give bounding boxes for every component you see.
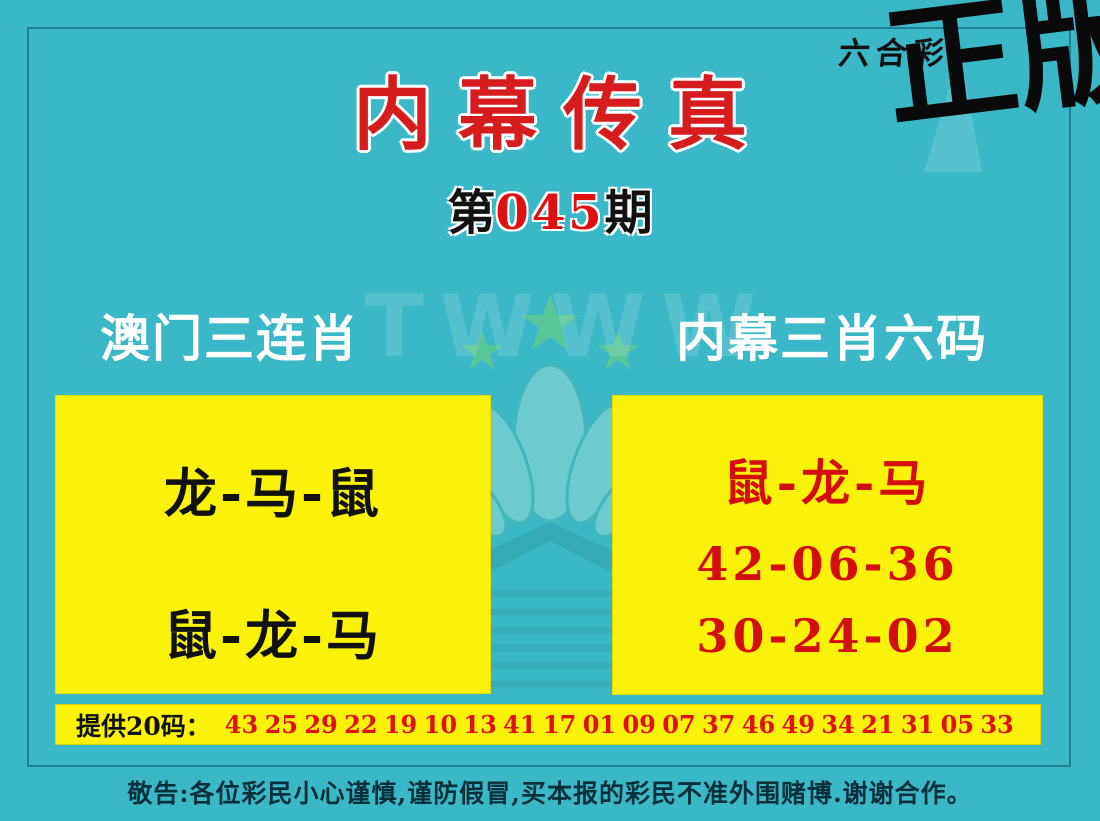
code-number: 19: [384, 710, 417, 739]
code-number: 05: [941, 710, 974, 739]
issue-prefix: 第: [447, 185, 495, 241]
prediction-line: 龙-马-鼠: [56, 452, 490, 528]
prediction-line: 42-06-36: [613, 537, 1042, 591]
code-number: 25: [265, 710, 298, 739]
section-heading-left: 澳门三连肖: [100, 310, 360, 368]
code-number: 21: [861, 710, 894, 739]
codes-list: 4325292219101341170109073746493421310533: [211, 710, 1040, 739]
code-number: 13: [463, 710, 496, 739]
codes-strip: 提供20码： 432529221910134117010907374649342…: [55, 704, 1041, 745]
issue-suffix: 期: [605, 185, 653, 241]
prediction-line: 30-24-02: [613, 609, 1042, 663]
code-number: 43: [225, 710, 258, 739]
section-heading-right: 内幕三肖六码: [676, 310, 988, 368]
page-title: 内幕传真: [0, 72, 1100, 158]
prediction-line: 鼠-龙-马: [613, 444, 1042, 515]
codes-strip-label: 提供20码：: [56, 707, 211, 743]
code-number: 31: [901, 710, 934, 739]
prediction-line: 鼠-龙-马: [56, 594, 490, 670]
prediction-box-right: 鼠-龙-马 42-06-36 30-24-02: [612, 395, 1043, 695]
code-number: 17: [543, 710, 576, 739]
code-number: 22: [344, 710, 377, 739]
code-number: 09: [622, 710, 655, 739]
issue-number: 045: [495, 185, 604, 241]
code-number: 46: [742, 710, 775, 739]
poster-canvas: TWWW 六合彩 正版 内幕传真 第045期 澳门三连肖 内幕三肖六码 龙-马-…: [0, 0, 1100, 821]
code-number: 33: [980, 710, 1013, 739]
code-number: 49: [782, 710, 815, 739]
code-number: 37: [702, 710, 735, 739]
prediction-box-left: 龙-马-鼠 鼠-龙-马: [55, 395, 491, 694]
footer-notice: 敬告:各位彩民小心谨慎,谨防假冒,买本报的彩民不准外围赌博.谢谢合作。: [0, 778, 1100, 810]
code-number: 10: [424, 710, 457, 739]
code-number: 07: [662, 710, 695, 739]
code-number: 29: [304, 710, 337, 739]
code-number: 41: [503, 710, 536, 739]
issue-number-line: 第045期: [0, 185, 1100, 241]
code-number: 34: [821, 710, 854, 739]
code-number: 01: [583, 710, 616, 739]
